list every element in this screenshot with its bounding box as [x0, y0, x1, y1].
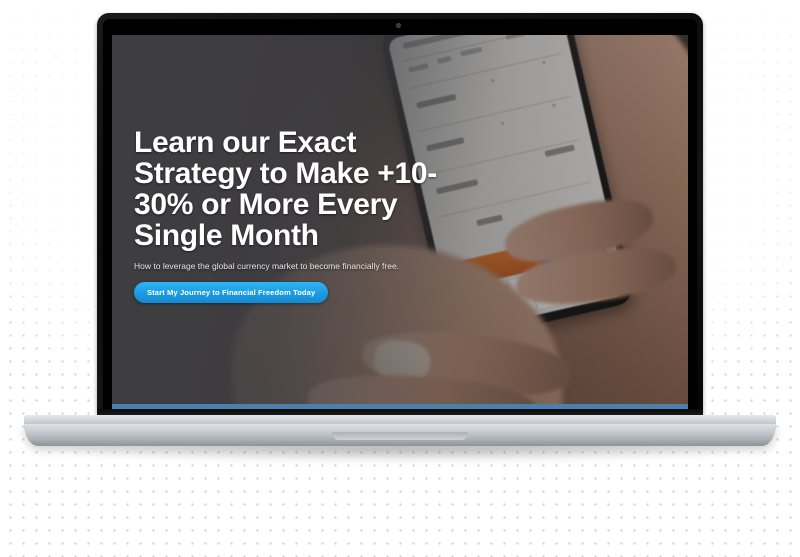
cta-button[interactable]: Start My Journey to Financial Freedom To…	[134, 282, 328, 303]
page-title-line: Single Month	[134, 219, 319, 252]
hero-subheadline: How to leverage the global currency mark…	[134, 260, 444, 272]
laptop-screen: Learn our ExactStrategy to Make +10-30% …	[112, 35, 688, 411]
hero-copy-block: Learn our ExactStrategy to Make +10-30% …	[134, 127, 444, 303]
page-title-line: 30% or More Every	[134, 188, 397, 221]
page-title-line: Learn our Exact	[134, 126, 356, 159]
webcam-icon	[396, 23, 401, 28]
page-title: Learn our ExactStrategy to Make +10-30% …	[134, 127, 444, 251]
laptop-base	[24, 415, 776, 446]
laptop-base-body	[24, 424, 776, 446]
laptop-mockup: Learn our ExactStrategy to Make +10-30% …	[0, 0, 800, 557]
page-title-line: Strategy to Make +10-	[134, 157, 437, 190]
laptop-base-notch	[332, 432, 468, 440]
laptop-lid: Learn our ExactStrategy to Make +10-30% …	[97, 13, 703, 417]
